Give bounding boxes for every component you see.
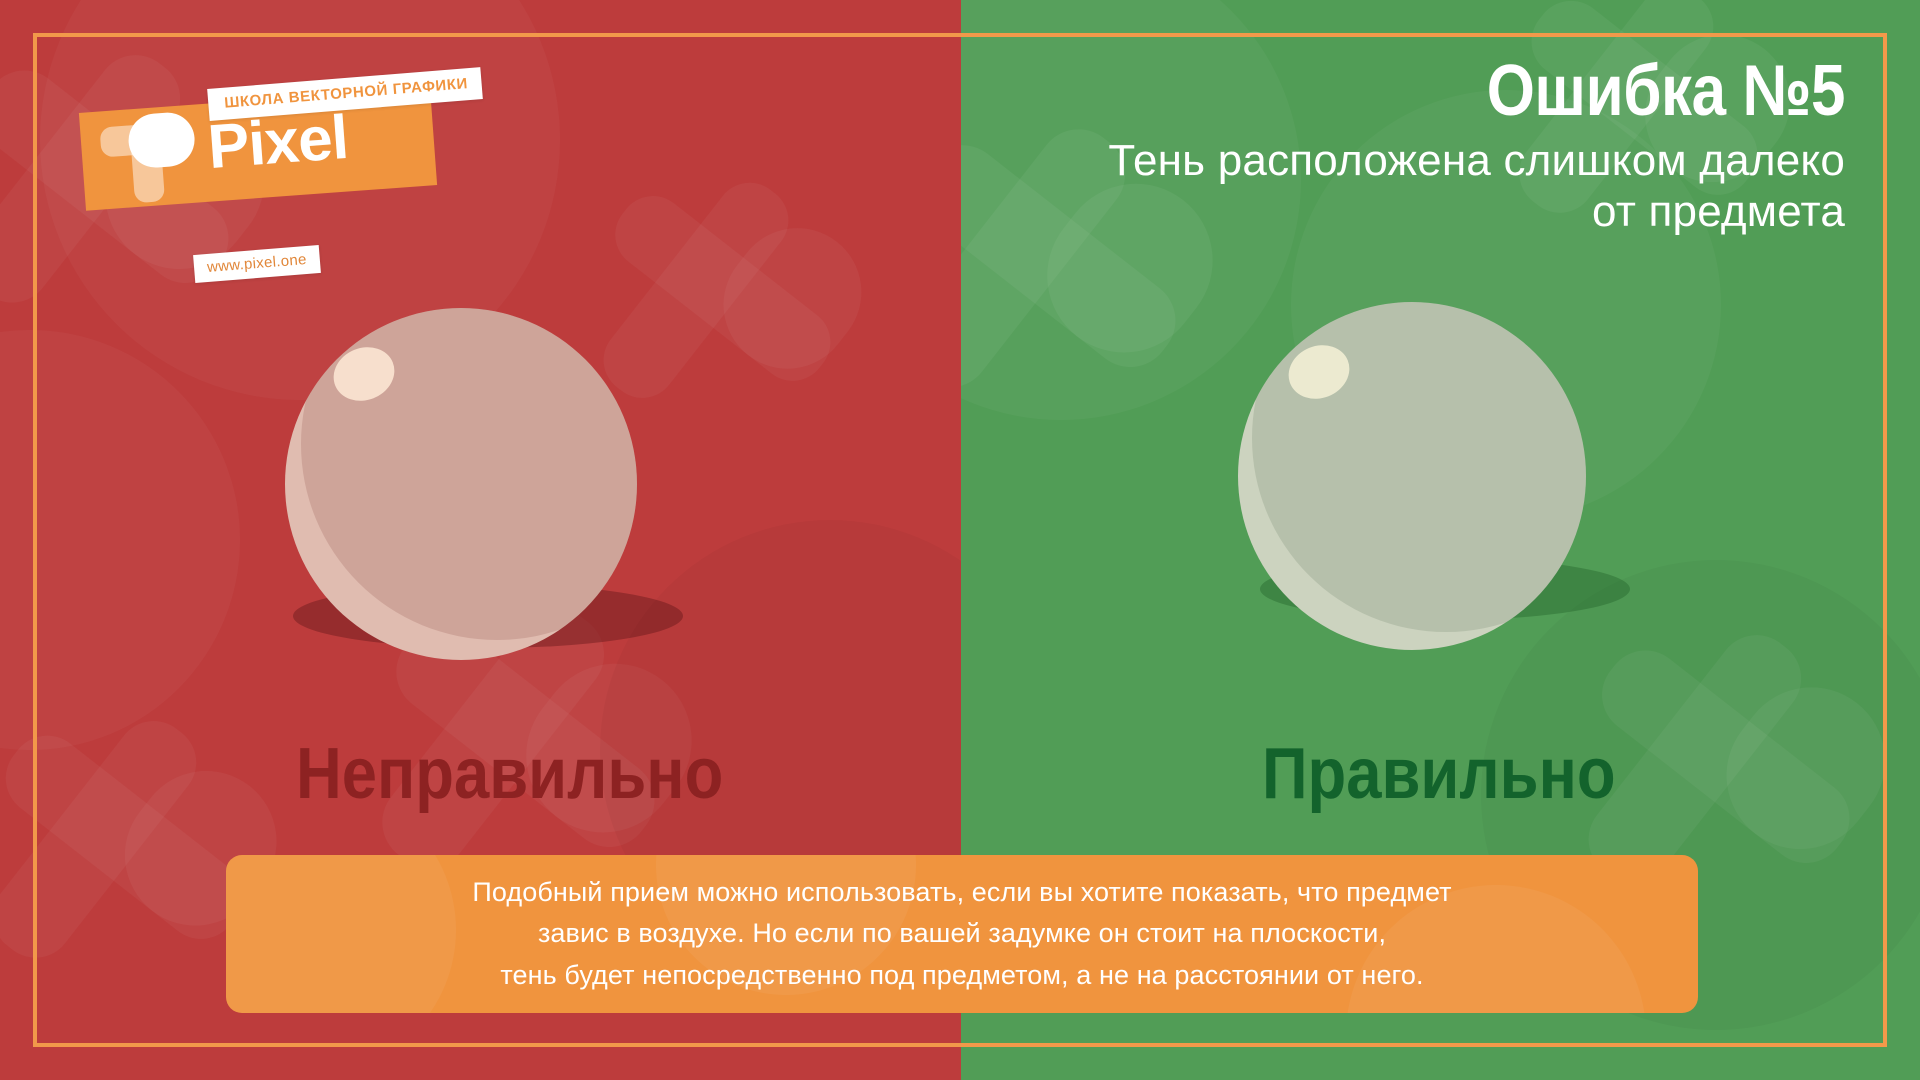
verdict-label-right: Правильно (1262, 738, 1616, 810)
logo-tagline-text: ШКОЛА ВЕКТОРНОЙ ГРАФИКИ (224, 75, 469, 112)
brand-logo[interactable]: Pixel ШКОЛА ВЕКТОРНОЙ ГРАФИКИ www.pixel.… (72, 60, 472, 235)
verdict-label-wrong: Неправильно (296, 738, 723, 810)
page-title: Ошибка №5 (1071, 56, 1845, 127)
sphere-right (1238, 302, 1586, 650)
sphere-scene-right (1238, 302, 1658, 722)
logo-url-text: www.pixel.one (206, 251, 307, 276)
caption-box: Подобный прием можно использовать, если … (226, 855, 1698, 1013)
infographic-slide: Pixel ШКОЛА ВЕКТОРНОЙ ГРАФИКИ www.pixel.… (0, 0, 1920, 1080)
page-subtitle: Тень расположена слишком далеко от предм… (945, 135, 1845, 238)
sphere-scene-wrong (285, 308, 705, 728)
caption-text: Подобный прием можно использовать, если … (432, 872, 1491, 995)
sphere-wrong (285, 308, 637, 660)
headline-block: Ошибка №5 Тень расположена слишком далек… (945, 56, 1845, 237)
caption-blob (226, 855, 456, 1013)
background-blob (0, 330, 240, 750)
pixel-p-logo-icon (99, 111, 201, 210)
